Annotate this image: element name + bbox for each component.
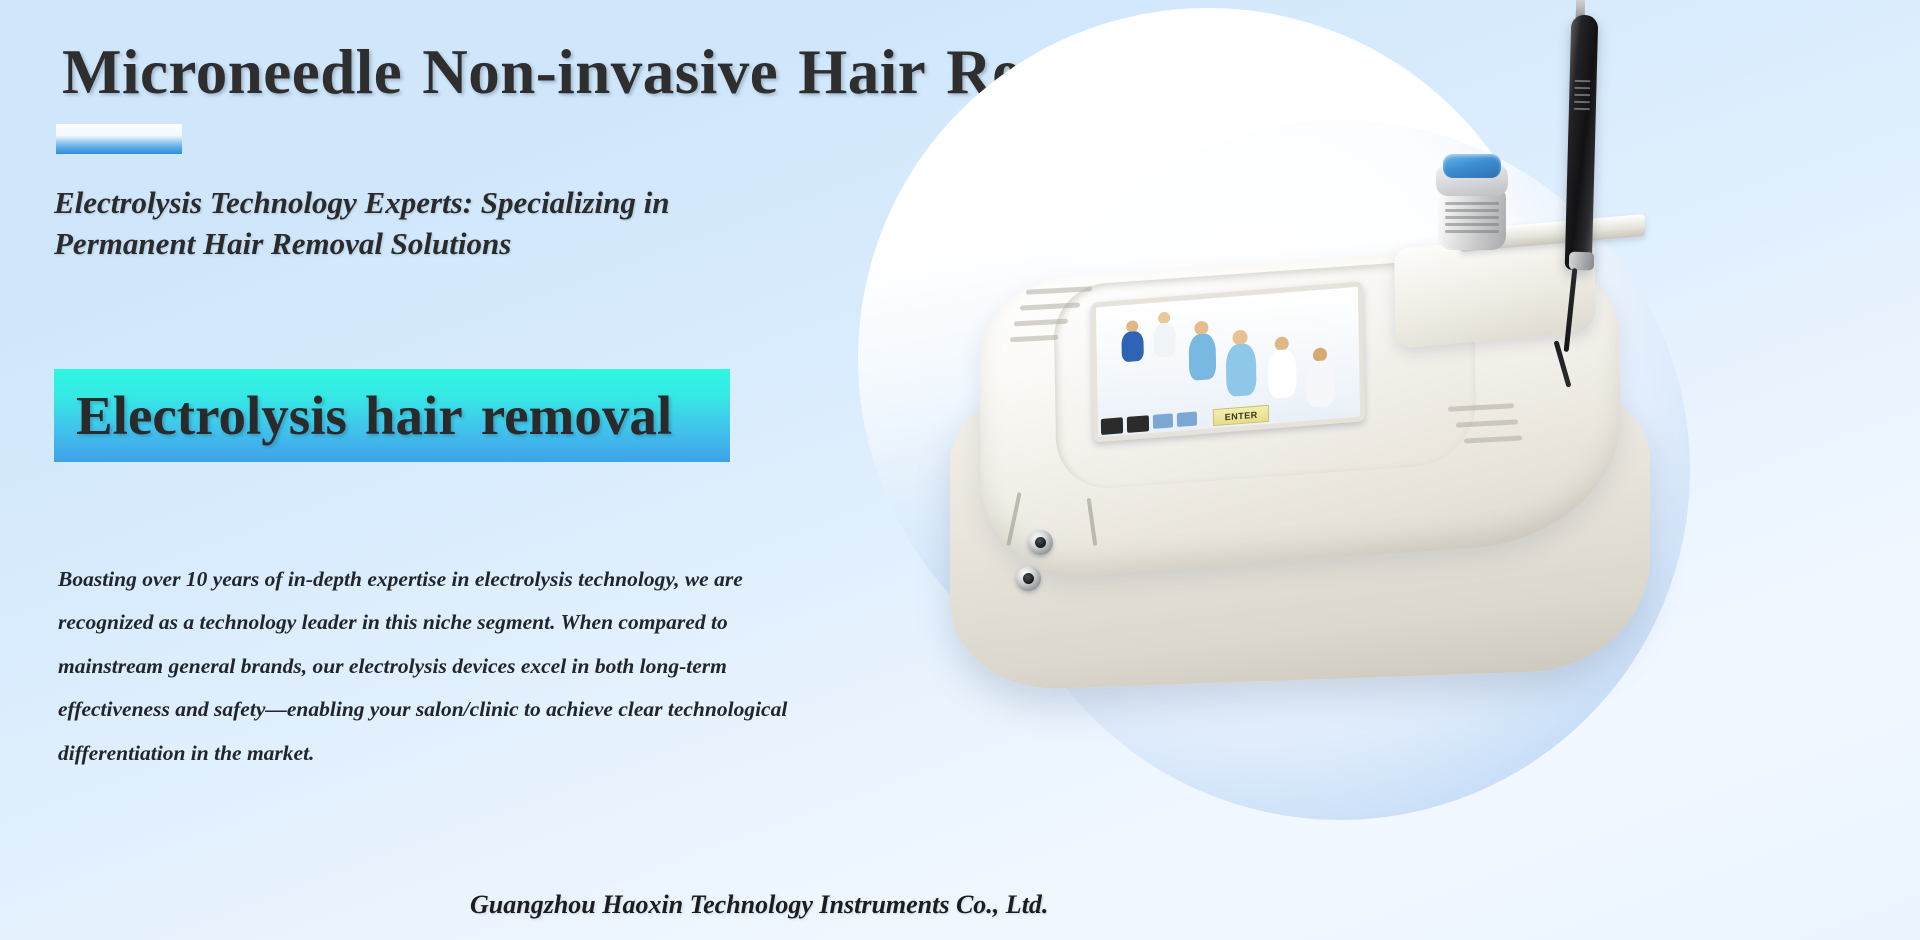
knob-vent-line [1445,216,1499,219]
knob-vent-line [1445,202,1499,205]
knob-vent-group [1445,200,1499,240]
staff-body [1226,343,1257,397]
pen-ring [1574,108,1590,110]
knob-cap[interactable] [1443,154,1501,178]
knob-vent-line [1445,209,1499,212]
product-image: ENTER [840,0,1920,940]
knob-vent-line [1445,223,1499,226]
pen-ring [1574,87,1590,89]
pen-ring [1574,101,1590,103]
screen-key-dark[interactable] [1101,417,1123,435]
screen-key-blue[interactable] [1153,413,1173,429]
highlight-banner-text: Electrolysishairremoval [54,384,672,447]
staff-body [1121,331,1144,363]
marketing-banner: MicroneedleNon-invasiveHairRemoval Elect… [0,0,1920,940]
body-paragraph: Boasting over 10 years of in-depth exper… [58,558,798,775]
pen-ring [1574,80,1590,82]
highlight-word-1: Electrolysis [76,385,347,446]
staff-body [1153,322,1176,358]
connector-port-hole [1023,573,1034,584]
machine-lcd-screen[interactable]: ENTER [1091,281,1365,442]
headline-word-2: Non-invasive [422,37,778,107]
staff-body [1268,349,1297,399]
screen-key-dark[interactable] [1127,415,1149,433]
electrolysis-machine: ENTER [940,230,1700,710]
screen-key-row [1101,411,1197,435]
staff-body [1306,360,1335,408]
highlight-word-2: hair [365,385,463,446]
screen-illustration: ENTER [1096,287,1360,437]
highlight-word-3: removal [481,385,672,446]
knob-vent-line [1445,230,1499,233]
highlight-banner: Electrolysishairremoval [54,369,730,462]
staff-body [1188,333,1216,381]
title-divider-bar [56,124,182,154]
subtitle: Electrolysis Technology Experts: Special… [54,182,814,264]
screen-key-blue[interactable] [1177,411,1197,427]
probe-pen-grip-rings [1573,80,1590,120]
pen-ring [1574,94,1590,96]
connector-port-hole [1035,537,1046,548]
headline-word-1: Microneedle [62,37,402,107]
enter-button[interactable]: ENTER [1213,405,1269,426]
